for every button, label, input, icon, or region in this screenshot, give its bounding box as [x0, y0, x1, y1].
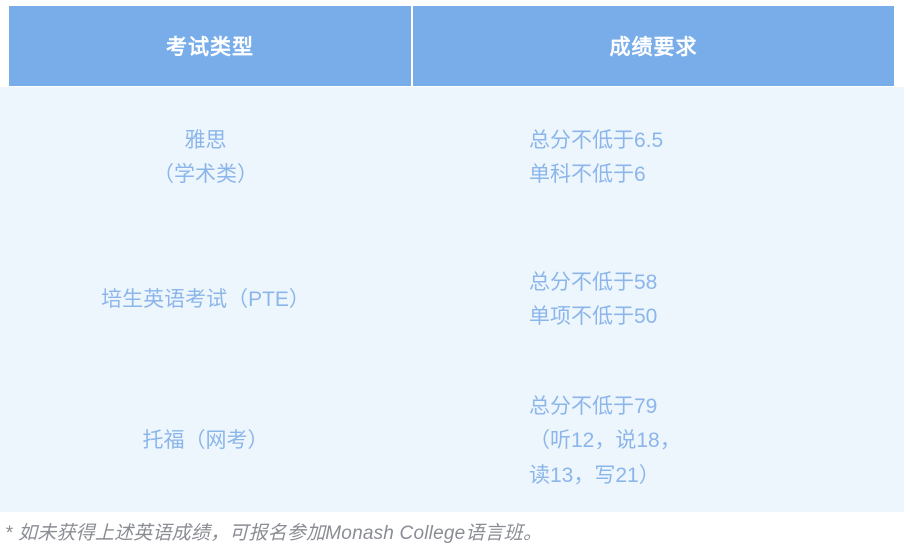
requirement-line: 单科不低于6: [529, 158, 646, 192]
english-requirements-table: 考试类型 成绩要求 雅思 （学术类） 总分不低于6.5 单科不低于6 培生英语考…: [0, 0, 904, 546]
cell-exam-type-pte: 培生英语考试（PTE）: [0, 229, 411, 371]
requirement-line: 读13，写21）: [529, 459, 660, 493]
table-header-cell-score-requirement: 成绩要求: [413, 6, 894, 86]
requirement-line: 总分不低于79: [529, 390, 657, 424]
table-row: 托福（网考） 总分不低于79 （听12，说18， 读13，写21）: [0, 371, 904, 512]
table-header-cell-exam-type: 考试类型: [9, 6, 411, 86]
table-row: 雅思 （学术类） 总分不低于6.5 单科不低于6: [0, 87, 904, 229]
table-footnote: * 如未获得上述英语成绩，可报名参加Monash College语言班。: [5, 518, 895, 545]
requirement-line: 总分不低于6.5: [529, 124, 663, 158]
cell-requirement-ielts: 总分不低于6.5 单科不低于6: [411, 87, 904, 229]
cell-exam-type-ielts: 雅思 （学术类）: [0, 87, 411, 229]
cell-exam-type-toefl: 托福（网考）: [0, 371, 411, 512]
table-header-row: 考试类型 成绩要求: [9, 6, 894, 86]
table-row: 培生英语考试（PTE） 总分不低于58 单项不低于50: [0, 229, 904, 371]
cell-requirement-pte: 总分不低于58 单项不低于50: [411, 229, 904, 371]
cell-requirement-toefl: 总分不低于79 （听12，说18， 读13，写21）: [411, 371, 904, 512]
requirement-line: （听12，说18，: [529, 424, 681, 458]
requirement-line: 总分不低于58: [529, 266, 657, 300]
table-body: 雅思 （学术类） 总分不低于6.5 单科不低于6 培生英语考试（PTE） 总分不…: [0, 87, 904, 512]
requirement-line: 单项不低于50: [529, 300, 657, 334]
